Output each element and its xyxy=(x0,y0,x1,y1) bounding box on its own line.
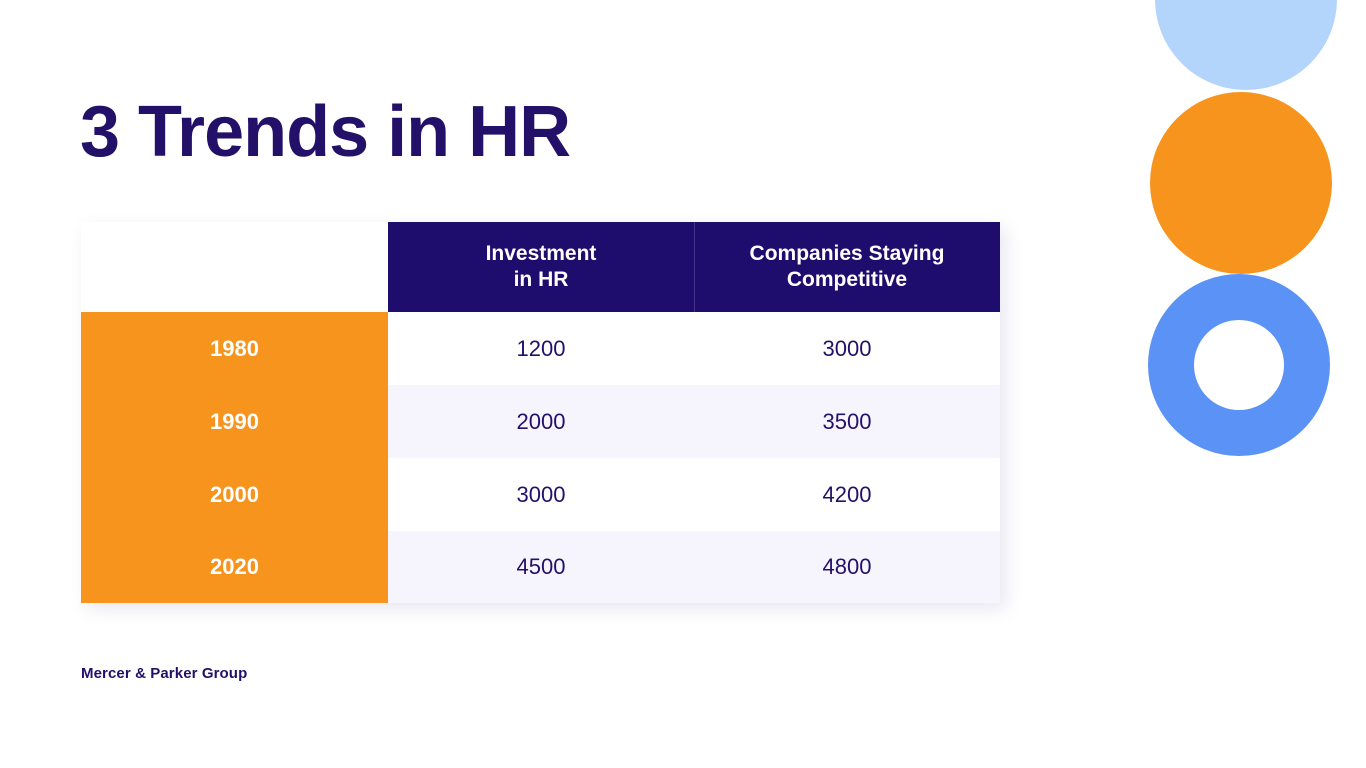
decorative-circles-rail xyxy=(1140,0,1366,500)
table-row-competitive: 3000 xyxy=(694,312,1000,385)
table-row-year: 1980 xyxy=(81,312,388,385)
table-row-investment: 4500 xyxy=(388,531,694,603)
column-header-investment: Investment in HR xyxy=(388,222,694,312)
table-row-year: 2020 xyxy=(81,531,388,603)
orange-circle-icon xyxy=(1150,92,1332,274)
table-row-competitive: 3500 xyxy=(694,385,1000,458)
column-header-investment-line2: in HR xyxy=(514,268,569,291)
table-row-investment: 1200 xyxy=(388,312,694,385)
table-row-year: 1990 xyxy=(81,385,388,458)
footer-brand: Mercer & Parker Group xyxy=(81,665,247,682)
column-header-competitive-line1: Companies Staying xyxy=(750,242,945,265)
table-row-investment: 3000 xyxy=(388,458,694,531)
table-row-competitive: 4800 xyxy=(694,531,1000,603)
page-title: 3 Trends in HR xyxy=(80,96,570,168)
table-row-competitive: 4200 xyxy=(694,458,1000,531)
table-row-investment: 2000 xyxy=(388,385,694,458)
trends-table: Investment in HR Companies Staying Compe… xyxy=(81,222,1000,603)
table-row-year: 2000 xyxy=(81,458,388,531)
blue-ring-icon xyxy=(1148,274,1330,456)
light-blue-circle-icon xyxy=(1155,0,1337,90)
table-corner-cell xyxy=(81,222,388,312)
table-grid: Investment in HR Companies Staying Compe… xyxy=(81,222,1000,603)
column-header-competitive: Companies Staying Competitive xyxy=(694,222,1000,312)
column-header-competitive-line2: Competitive xyxy=(787,268,907,291)
column-header-investment-line1: Investment xyxy=(486,242,597,265)
